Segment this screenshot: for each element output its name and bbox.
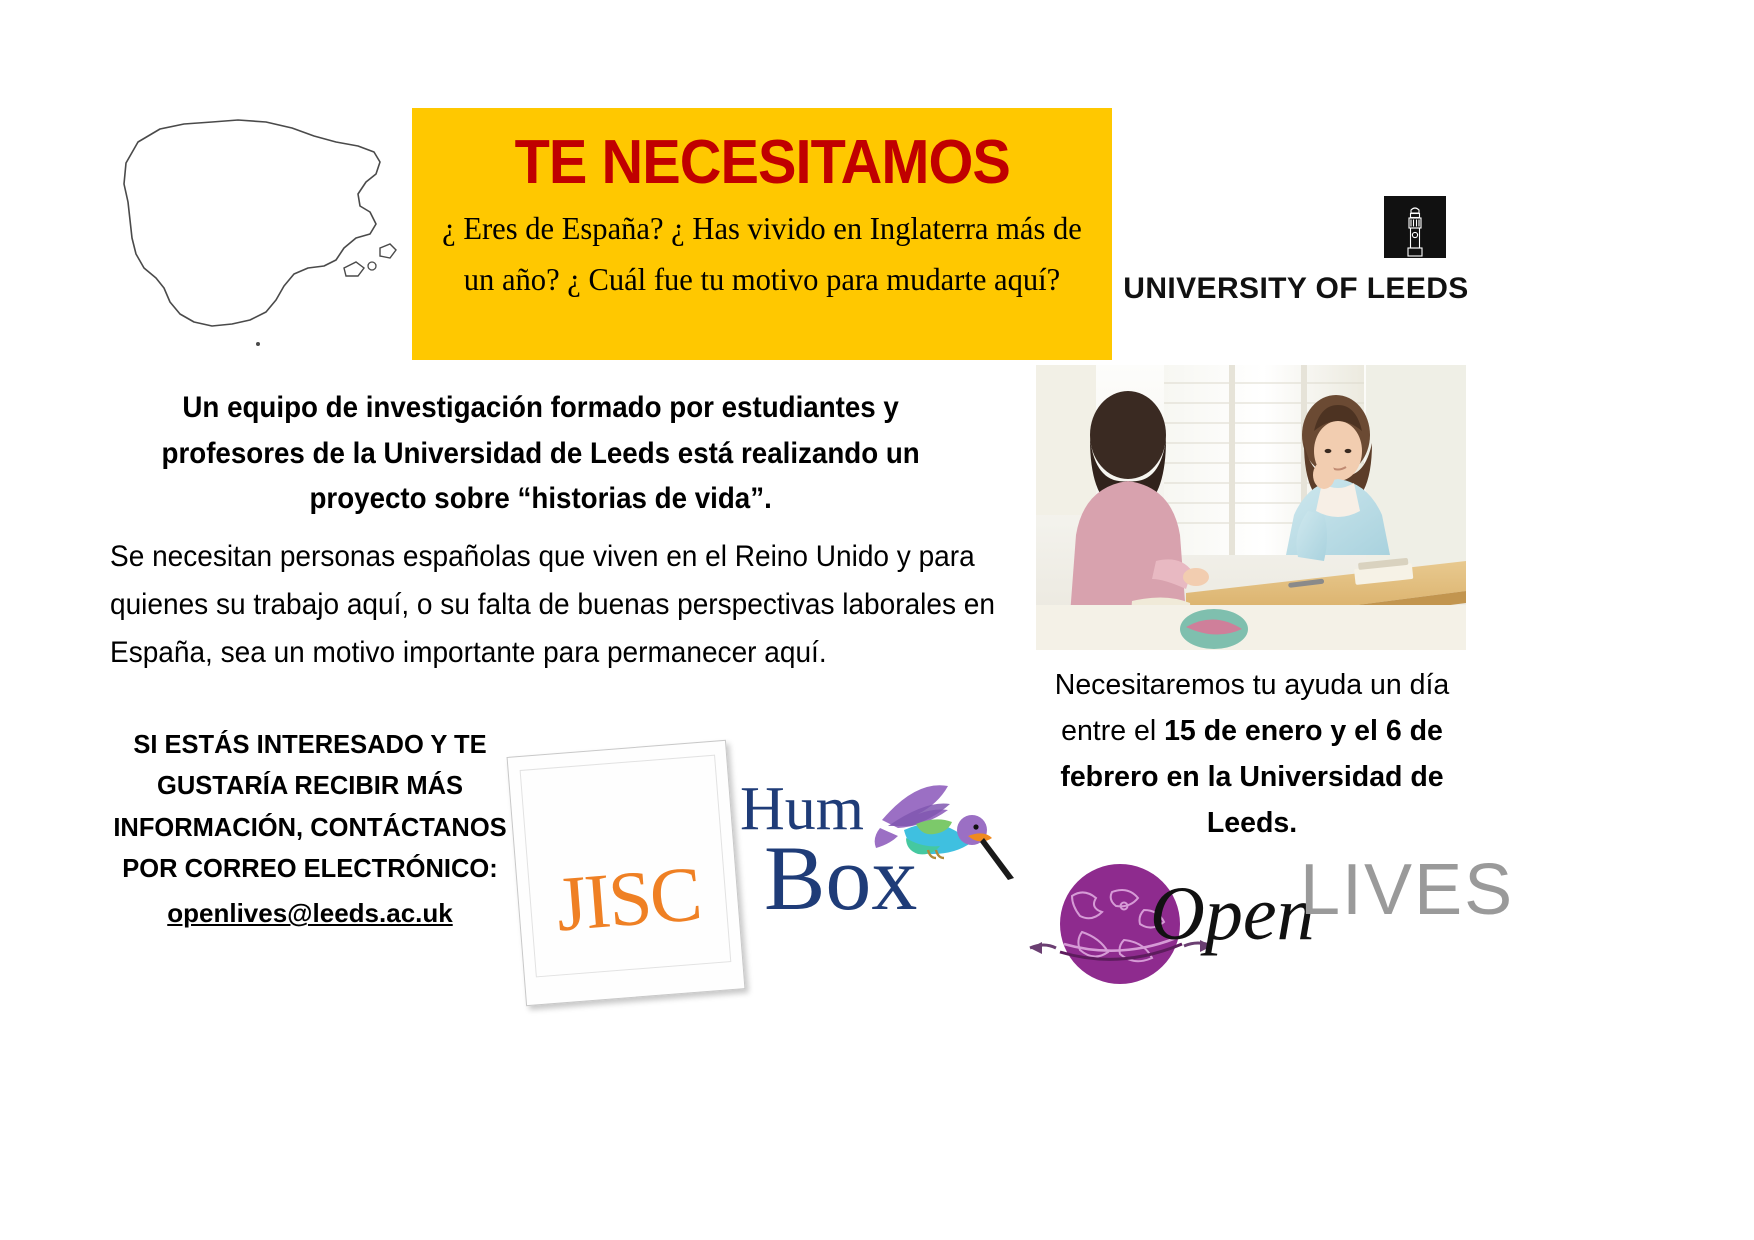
contact-instructions: SI ESTÁS INTERESADO Y TE GUSTARÍA RECIBI… <box>113 731 506 883</box>
body-paragraph: Se necesitan personas españolas que vive… <box>110 533 1041 676</box>
contact-block: SI ESTÁS INTERESADO Y TE GUSTARÍA RECIBI… <box>100 725 520 934</box>
openlives-wordmark-open: Open <box>1150 876 1315 952</box>
openlives-logo: Open LIVES <box>1010 840 1480 1000</box>
jisc-logo: JISC <box>507 740 746 1006</box>
hummingbird-icon <box>872 774 1022 894</box>
university-of-leeds-logo: UNIVERSITY OF LEEDS <box>1122 196 1470 314</box>
leeds-wordmark: UNIVERSITY OF LEEDS <box>1122 272 1470 306</box>
page-title: TE NECESITAMOS <box>514 128 1009 197</box>
interview-photo <box>1036 365 1466 650</box>
humbox-logo: Hum Box <box>740 778 1015 958</box>
dates-text: Necesitaremos tu ayuda un día entre el 1… <box>1032 662 1472 847</box>
contact-email-link[interactable]: openlives@leeds.ac.uk <box>100 892 520 934</box>
parkinson-tower-icon <box>1384 196 1446 258</box>
openlives-wordmark-lives: LIVES <box>1300 854 1514 926</box>
poster-canvas: TE NECESITAMOS ¿ Eres de España? ¿ Has v… <box>0 0 1754 1240</box>
intro-paragraph: Un equipo de investigación formado por e… <box>112 385 969 522</box>
headline-banner: TE NECESITAMOS ¿ Eres de España? ¿ Has v… <box>412 108 1112 360</box>
headline-subtitle: ¿ Eres de España? ¿ Has vivido en Inglat… <box>442 203 1082 305</box>
spain-map-outline-icon <box>108 108 408 368</box>
